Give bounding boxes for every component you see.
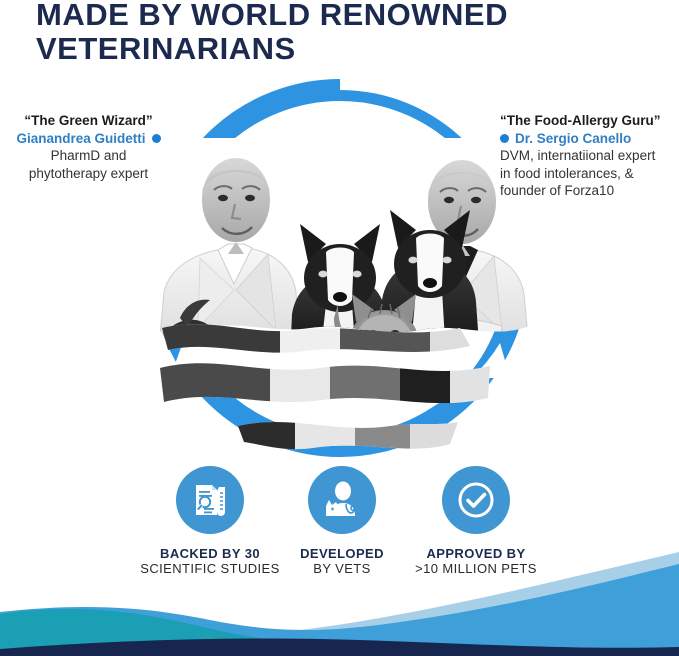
vet-with-dog-stethoscope-icon (322, 480, 362, 520)
expert-right-name: Dr. Sergio Canello (500, 130, 679, 148)
badge-icon-circle (176, 466, 244, 534)
expert-right: “The Food-Allergy Guru” Dr. Sergio Canel… (500, 112, 679, 200)
expert-right-role-line3: founder of Forza10 (500, 182, 679, 200)
page-title-line2: VETERINARIANS (36, 32, 636, 66)
hero-photo (140, 78, 540, 458)
expert-left-role-line2: phytotherapy expert (0, 165, 181, 183)
expert-left-name-text: Gianandrea Guidetti (16, 131, 145, 146)
expert-right-name-text: Dr. Sergio Canello (515, 131, 631, 146)
blue-dot-icon (500, 134, 509, 143)
expert-right-role-line2: in food intolerances, & (500, 165, 679, 183)
badge-icon-circle (442, 466, 510, 534)
expert-left-name: Gianandrea Guidetti (0, 130, 181, 148)
infographic-canvas: MADE BY WORLD RENOWNED VETERINARIANS (0, 0, 679, 656)
expert-left-role-line1: PharmD and (0, 147, 181, 165)
blue-dot-icon (152, 134, 161, 143)
page-title-line1: MADE BY WORLD RENOWNED (36, 0, 508, 32)
badge-icon-circle (308, 466, 376, 534)
expert-right-role-line1: DVM, internatiional expert (500, 147, 679, 165)
expert-left-quote: “The Green Wizard” (0, 112, 181, 130)
document-magnifier-testtube-icon (190, 480, 230, 520)
bottom-wave-decoration (0, 546, 679, 656)
check-circle-icon (454, 478, 498, 522)
expert-left: “The Green Wizard” Gianandrea Guidetti P… (0, 112, 181, 182)
expert-right-quote: “The Food-Allergy Guru” (500, 112, 679, 130)
page-title: MADE BY WORLD RENOWNED VETERINARIANS (36, 0, 636, 66)
